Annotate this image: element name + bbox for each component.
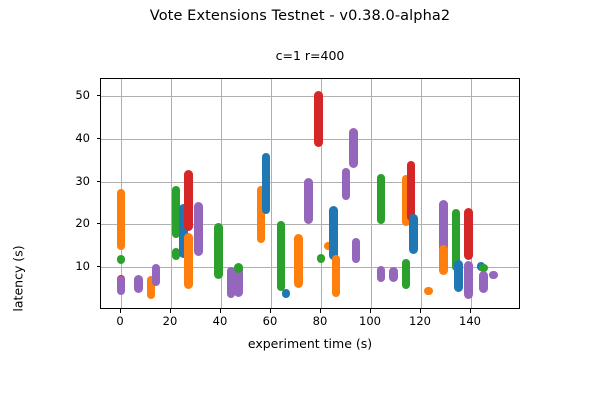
data-strip xyxy=(152,264,161,286)
data-strip xyxy=(134,275,143,293)
x-tick-mark xyxy=(270,309,271,313)
y-tick-mark xyxy=(97,266,101,267)
x-tick-label: 100 xyxy=(350,314,390,328)
data-strip xyxy=(184,170,193,232)
data-strip xyxy=(389,267,398,282)
data-point xyxy=(424,287,433,296)
data-strip xyxy=(329,206,338,261)
x-axis-label: experiment time (s) xyxy=(100,336,520,351)
figure-title: Vote Extensions Testnet - v0.38.0-alpha2 xyxy=(0,8,600,24)
x-tick-mark xyxy=(120,309,121,313)
data-strip xyxy=(464,261,473,299)
x-tick-label: 20 xyxy=(150,314,190,328)
data-strip xyxy=(407,161,416,221)
data-strip xyxy=(377,174,386,224)
x-tick-mark xyxy=(320,309,321,313)
data-strip xyxy=(479,271,488,293)
data-strip xyxy=(377,266,386,281)
plot-area xyxy=(100,78,520,309)
data-strip xyxy=(117,189,126,250)
x-tick-label: 40 xyxy=(200,314,240,328)
data-point xyxy=(317,254,326,263)
data-strip xyxy=(332,255,341,297)
x-tick-label: 80 xyxy=(300,314,340,328)
data-strip xyxy=(464,208,473,260)
data-strip xyxy=(352,238,361,263)
data-strip xyxy=(342,168,351,201)
data-strip xyxy=(184,233,193,289)
data-strip xyxy=(439,200,448,252)
data-strip xyxy=(194,202,203,256)
x-tick-label: 0 xyxy=(100,314,140,328)
gridline-horizontal xyxy=(101,96,519,97)
data-strip xyxy=(294,234,303,288)
matplotlib-figure: Vote Extensions Testnet - v0.38.0-alpha2… xyxy=(0,0,600,400)
data-strip xyxy=(402,259,411,289)
data-strip xyxy=(117,276,126,295)
y-axis-label-wrap: latency (s) xyxy=(0,78,92,309)
data-strip xyxy=(117,255,126,264)
gridline-vertical xyxy=(421,79,422,308)
gridline-vertical xyxy=(371,79,372,308)
data-strip xyxy=(214,223,223,279)
data-strip xyxy=(304,178,313,224)
data-point xyxy=(489,271,498,280)
data-strip xyxy=(439,245,448,275)
data-strip xyxy=(349,128,358,168)
x-tick-label: 120 xyxy=(400,314,440,328)
data-strip xyxy=(262,153,271,215)
x-tick-mark xyxy=(170,309,171,313)
y-tick-mark xyxy=(97,223,101,224)
y-axis-label: latency (s) xyxy=(11,199,26,359)
y-tick-mark xyxy=(97,181,101,182)
data-strip xyxy=(409,214,418,253)
axes-subtitle: c=1 r=400 xyxy=(100,48,520,63)
data-point xyxy=(282,289,291,298)
data-strip xyxy=(314,91,323,147)
x-tick-mark xyxy=(420,309,421,313)
data-strip xyxy=(454,260,463,292)
x-tick-mark xyxy=(470,309,471,313)
x-tick-mark xyxy=(220,309,221,313)
gridline-horizontal xyxy=(101,139,519,140)
x-tick-label: 60 xyxy=(250,314,290,328)
gridline-vertical xyxy=(271,79,272,308)
data-strip xyxy=(234,263,243,273)
y-tick-mark xyxy=(97,138,101,139)
y-tick-mark xyxy=(97,95,101,96)
x-tick-mark xyxy=(370,309,371,313)
data-strip xyxy=(277,221,286,291)
x-tick-label: 140 xyxy=(450,314,490,328)
